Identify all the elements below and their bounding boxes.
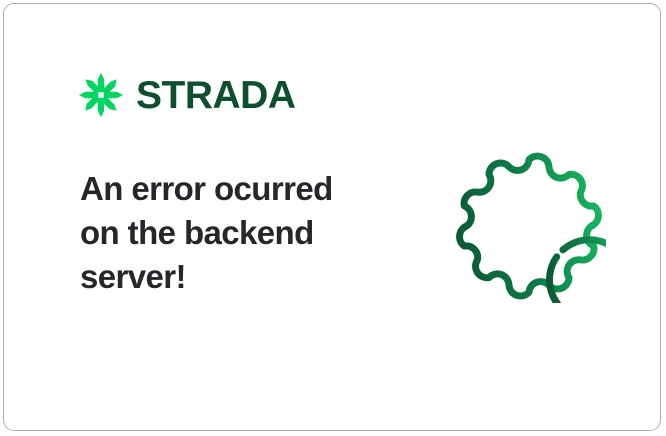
gear-icon	[452, 149, 606, 303]
brand-lockup: STRADA	[78, 72, 296, 118]
strada-asterisk-icon	[78, 72, 124, 118]
error-message: An error ocurred on the backend server!	[80, 167, 380, 299]
brand-wordmark: STRADA	[136, 76, 296, 115]
error-card: STRADA An error ocurred on the backend s…	[3, 3, 661, 431]
